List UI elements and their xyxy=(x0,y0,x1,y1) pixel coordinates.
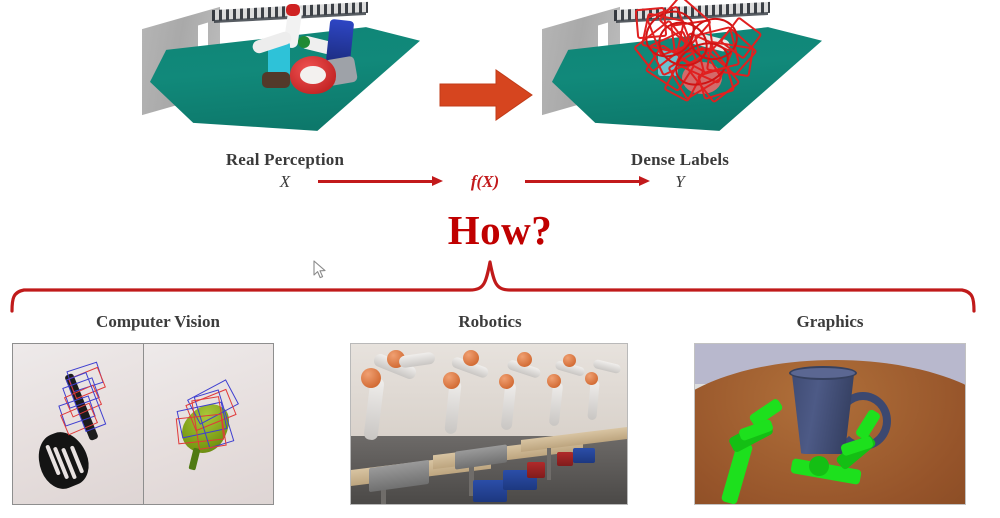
cv-image-divider xyxy=(143,344,144,504)
robot-arm-joint xyxy=(547,374,561,388)
robot-bin xyxy=(527,462,545,478)
robot-arm-joint xyxy=(517,352,532,367)
section-label-graphics: Graphics xyxy=(760,312,900,332)
robot-bin xyxy=(557,452,573,466)
robot-bin xyxy=(473,480,507,502)
mug-rim xyxy=(789,366,857,380)
mouse-pointer-icon xyxy=(313,260,329,280)
robot-arm-joint xyxy=(499,374,514,389)
robot-arm-joint xyxy=(361,368,381,388)
section-label-robotics: Robotics xyxy=(420,312,560,332)
robot-arm-joint xyxy=(563,354,576,367)
computer-vision-figure xyxy=(12,343,274,505)
gripper-right-joint xyxy=(809,456,829,476)
grouping-brace xyxy=(0,0,1000,318)
section-label-computer-vision: Computer Vision xyxy=(58,312,258,332)
robot-arm-joint xyxy=(585,372,598,385)
robotics-figure xyxy=(350,343,628,505)
slide-canvas: Real Perception Dense Labels X f(X) Y Ho… xyxy=(0,0,1000,518)
robot-arm-joint xyxy=(463,350,479,366)
robot-arm-joint xyxy=(443,372,460,389)
bench-leg xyxy=(547,448,551,480)
robot-bin xyxy=(573,448,595,463)
graphics-figure xyxy=(694,343,966,505)
